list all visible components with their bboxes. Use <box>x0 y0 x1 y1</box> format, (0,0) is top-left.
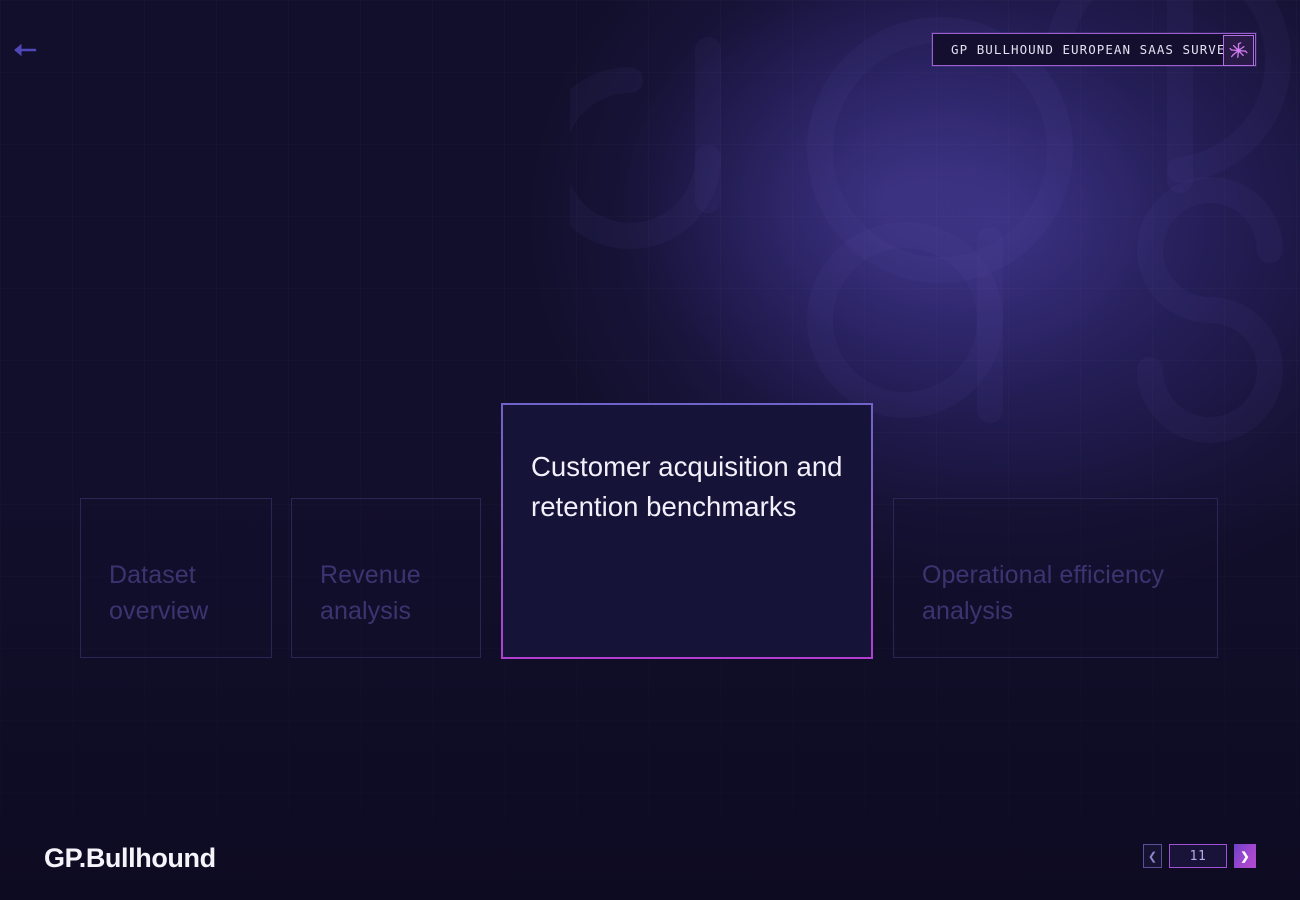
section-card-revenue-analysis[interactable]: Revenue analysis <box>291 498 481 658</box>
pagination: ❮ 11 ❯ <box>1143 844 1256 868</box>
section-card-row: Dataset overview Revenue analysis Custom… <box>0 398 1300 666</box>
pagination-prev-button[interactable]: ❮ <box>1143 844 1162 868</box>
chevron-right-icon: ❯ <box>1240 850 1249 863</box>
brand-logo-wordmark: GP.Bullhound <box>44 843 216 874</box>
pagination-next-button[interactable]: ❯ <box>1234 844 1256 868</box>
section-card-operational-efficiency[interactable]: Operational efficiency analysis <box>893 498 1218 658</box>
section-card-customer-acquisition-active[interactable]: Customer acquisition and retention bench… <box>501 403 873 659</box>
pagination-page-number[interactable]: 11 <box>1169 844 1227 868</box>
section-card-label: Dataset overview <box>109 557 243 629</box>
section-card-dataset-overview[interactable]: Dataset overview <box>80 498 272 658</box>
section-card-label: Revenue analysis <box>320 557 452 629</box>
section-card-label-active: Customer acquisition and retention bench… <box>531 447 845 527</box>
survey-title-pill[interactable]: GP BULLHOUND EUROPEAN SAAS SURVEY <box>932 33 1256 66</box>
starburst-molecule-icon <box>1223 35 1254 66</box>
back-button[interactable] <box>10 36 38 64</box>
section-card-label: Operational efficiency analysis <box>922 557 1189 629</box>
survey-title-text: GP BULLHOUND EUROPEAN SAAS SURVEY <box>951 42 1255 57</box>
slide-canvas: GP BULLHOUND EUROPEAN SAAS SURVEY Datase… <box>0 0 1300 900</box>
chevron-left-icon: ❮ <box>1148 850 1157 863</box>
arrow-left-icon <box>11 41 37 59</box>
